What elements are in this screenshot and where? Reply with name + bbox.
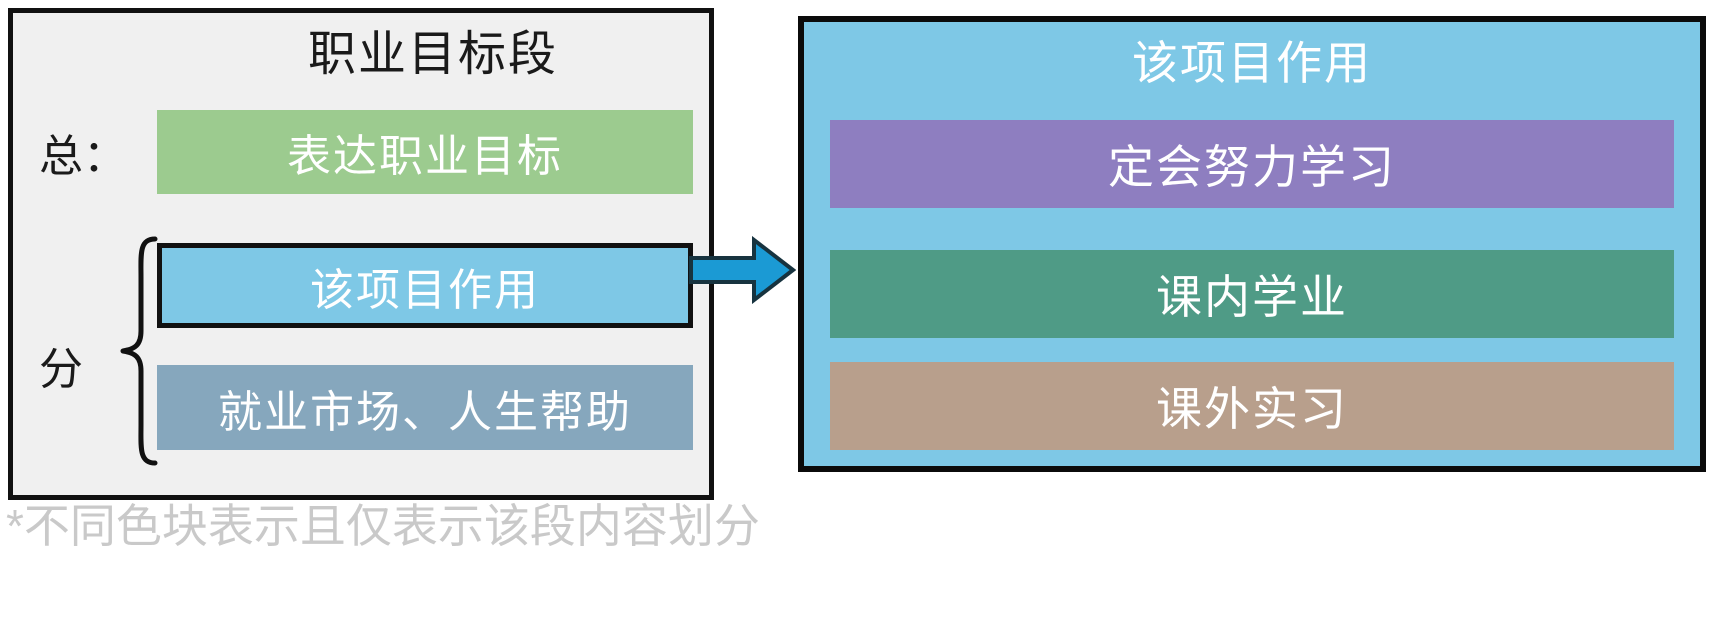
left-box-express-career-goal[interactable]: 表达职业目标 [157, 110, 693, 194]
detail-label: 分 [39, 348, 83, 392]
summary-label: 总： [39, 135, 127, 179]
diagram-canvas: 职业目标段 总： 分 表达职业目标 该项目作用 就业市场、人生帮助 该项目作用 … [0, 0, 1713, 624]
right-box-label: 定会努力学习 [1108, 131, 1396, 197]
left-box-job-market-life-help[interactable]: 就业市场、人生帮助 [157, 365, 693, 450]
left-panel-title: 职业目标段 [165, 31, 701, 79]
left-box-project-purpose[interactable]: 该项目作用 [157, 243, 693, 328]
right-box-in-class-study[interactable]: 课内学业 [830, 250, 1674, 338]
footnote-text: *不同色块表示且仅表示该段内容划分 [6, 503, 760, 549]
left-panel: 职业目标段 总： 分 表达职业目标 该项目作用 就业市场、人生帮助 [8, 8, 714, 500]
left-box-label: 该项目作用 [310, 254, 540, 318]
right-panel: 该项目作用 定会努力学习 课内学业 课外实习 [798, 16, 1706, 472]
left-box-label: 就业市场、人生帮助 [218, 376, 632, 440]
curly-brace-icon [117, 235, 159, 467]
right-box-label: 课内学业 [1156, 261, 1348, 327]
right-box-will-study-hard[interactable]: 定会努力学习 [830, 120, 1674, 208]
right-box-out-of-class-internship[interactable]: 课外实习 [830, 362, 1674, 450]
right-arrow-icon [688, 236, 796, 304]
right-box-label: 课外实习 [1156, 373, 1348, 439]
right-panel-title: 该项目作用 [804, 40, 1700, 86]
left-box-label: 表达职业目标 [287, 120, 563, 184]
